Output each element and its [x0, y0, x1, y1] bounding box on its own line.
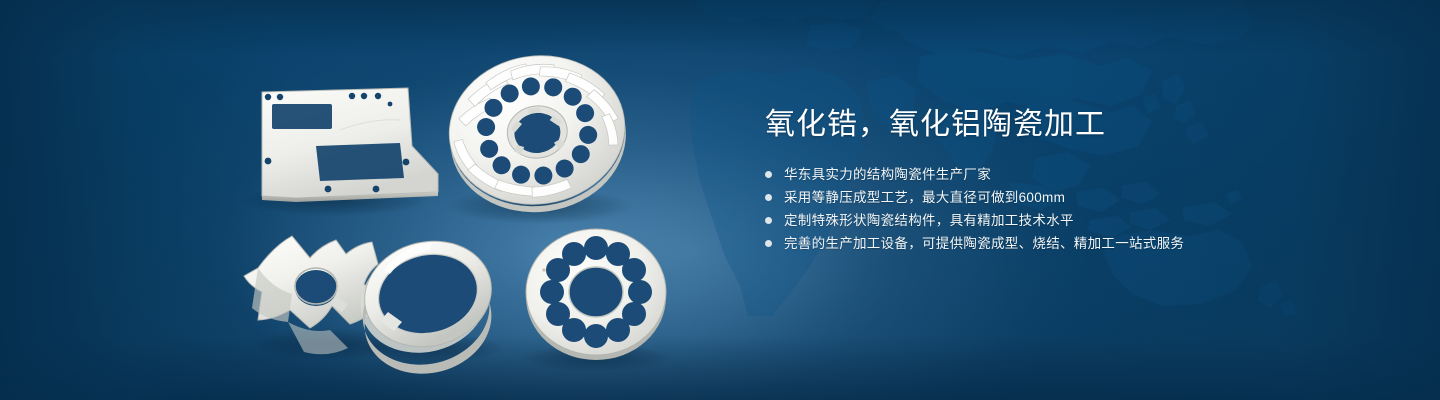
feature-text: 华东具实力的结构陶瓷件生产厂家	[784, 167, 991, 183]
list-item: 定制特殊形状陶瓷结构件，具有精加工技术水平	[765, 213, 1385, 229]
list-item: 完善的生产加工设备，可提供陶瓷成型、烧结、精加工一站式服务	[765, 236, 1385, 252]
bullet-dot-icon	[765, 240, 772, 247]
feature-text: 完善的生产加工设备，可提供陶瓷成型、烧结、精加工一站式服务	[784, 236, 1184, 252]
feature-text: 定制特殊形状陶瓷结构件，具有精加工技术水平	[784, 213, 1074, 229]
bullet-dot-icon	[765, 217, 772, 224]
bullet-dot-icon	[765, 171, 772, 178]
hero-banner: 氧化锆，氧化铝陶瓷加工 华东具实力的结构陶瓷件生产厂家 采用等静压成型工艺，最大…	[0, 0, 1440, 400]
feature-text: 采用等静压成型工艺，最大直径可做到600mm	[784, 190, 1065, 206]
page-title: 氧化锆，氧化铝陶瓷加工	[765, 108, 1385, 143]
banner-copy: 氧化锆，氧化铝陶瓷加工 华东具实力的结构陶瓷件生产厂家 采用等静压成型工艺，最大…	[765, 108, 1385, 259]
list-item: 华东具实力的结构陶瓷件生产厂家	[765, 167, 1385, 183]
feature-list: 华东具实力的结构陶瓷件生产厂家 采用等静压成型工艺，最大直径可做到600mm 定…	[765, 167, 1385, 252]
bullet-dot-icon	[765, 194, 772, 201]
list-item: 采用等静压成型工艺，最大直径可做到600mm	[765, 190, 1385, 206]
